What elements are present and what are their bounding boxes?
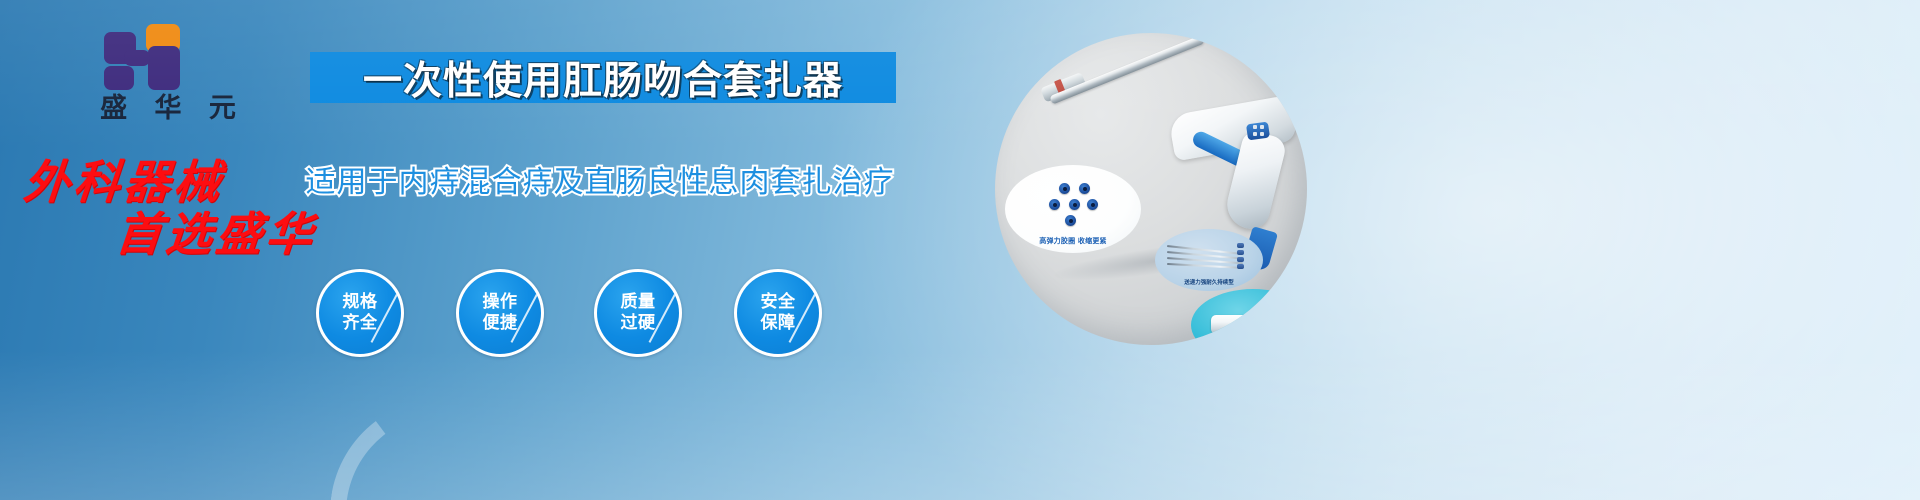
rubber-bands-caption: 高弹力胶圈 收缩更紧: [1005, 236, 1141, 246]
needles-caption: 送递力强耐久持续型: [1155, 278, 1263, 286]
rubber-band-dot: [1049, 199, 1060, 210]
needles-panel: 送递力强耐久持续型: [1155, 229, 1263, 291]
promo-banner: 盛 华 元 外科器械 首选盛华 一次性使用肛肠吻合套扎器 适用于内痔混合痔及直肠…: [0, 0, 1920, 500]
tube-panel: [1191, 289, 1307, 345]
rubber-band-dot: [1087, 199, 1098, 210]
rubber-band-dot: [1079, 183, 1090, 194]
device-rod: [1049, 35, 1204, 105]
needle-head: [1237, 250, 1244, 255]
rubber-band-dot: [1069, 199, 1080, 210]
tube-ring: [1257, 315, 1261, 334]
feature-badge-2[interactable]: 操作 便捷: [456, 269, 544, 357]
feature-badge-4[interactable]: 安全 保障: [734, 269, 822, 357]
device-indicator-dots: [1253, 125, 1271, 137]
needle-head: [1237, 257, 1244, 262]
product-photo: 高弹力胶圈 收缩更紧 送递力强耐久持续型: [995, 33, 1307, 345]
rubber-band-dot: [1059, 183, 1070, 194]
needle-head: [1237, 264, 1244, 269]
feature-badge-4-line2: 保障: [761, 313, 796, 334]
rubber-bands-panel: 高弹力胶圈 收缩更紧: [1005, 165, 1141, 253]
needle: [1167, 263, 1243, 269]
feature-badge-3-line2: 过硬: [621, 313, 656, 334]
feature-badge-4-line1: 安全: [761, 292, 796, 313]
feature-badge-2-line2: 便捷: [483, 313, 518, 334]
feature-badge-1-line1: 规格: [343, 292, 378, 313]
needle-head: [1237, 243, 1244, 248]
feature-badge-2-line1: 操作: [483, 292, 518, 313]
rubber-band-dot: [1065, 215, 1076, 226]
feature-badge-3-line1: 质量: [621, 292, 656, 313]
tube-cap: [1283, 317, 1297, 332]
tube-ring: [1249, 315, 1253, 334]
feature-badge-1-line2: 齐全: [343, 313, 378, 334]
feature-badge-3[interactable]: 质量 过硬: [594, 269, 682, 357]
feature-badge-1[interactable]: 规格 齐全: [316, 269, 404, 357]
